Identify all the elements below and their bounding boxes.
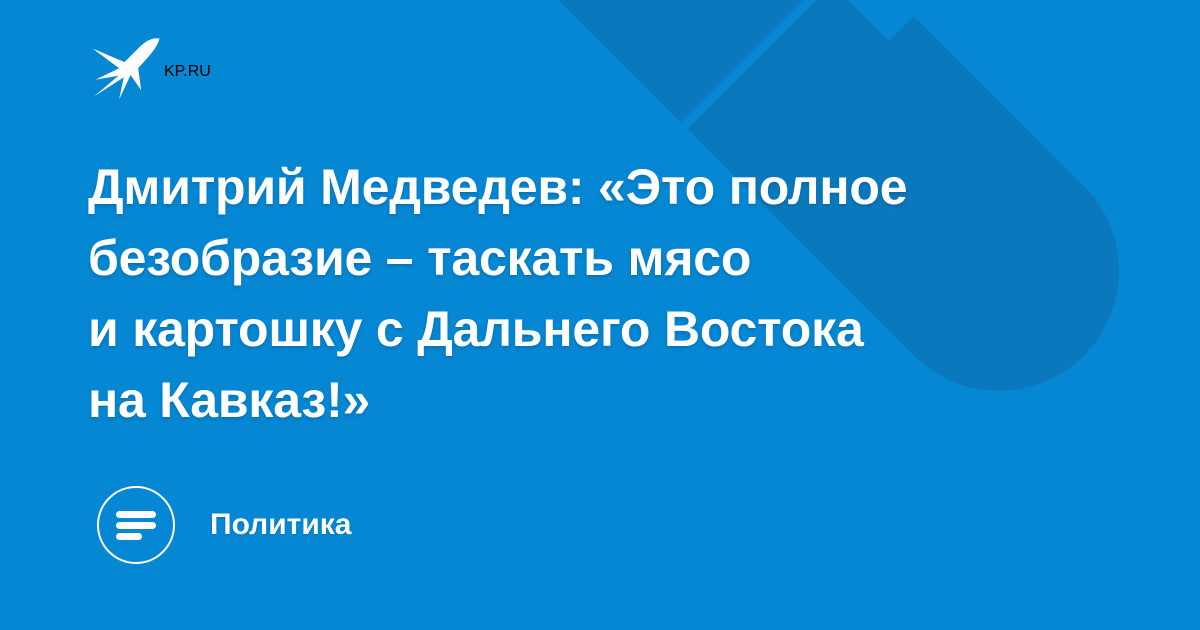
headline-line-4: на Кавказ!» [88, 365, 1098, 436]
headline-line-3: и картошку с Дальнего Востока [88, 294, 1098, 365]
brand-name: KP.RU [164, 63, 211, 81]
rubric-label: Политика [210, 510, 351, 540]
headline-line-2: безобразие – таскать мясо [88, 223, 1098, 294]
hamburger-menu-icon [116, 509, 156, 541]
swallow-bird-icon [88, 34, 164, 110]
page-title: Дмитрий Медведев: «Это полное безобразие… [88, 152, 1098, 436]
share-card: KP.RU Дмитрий Медведев: «Это полное безо… [0, 0, 1200, 630]
rubric-icon-circle [97, 486, 175, 564]
brand-logo[interactable]: KP.RU [88, 36, 211, 108]
rubric-badge[interactable]: Политика [97, 485, 351, 565]
headline-line-1: Дмитрий Медведев: «Это полное [88, 152, 1098, 223]
